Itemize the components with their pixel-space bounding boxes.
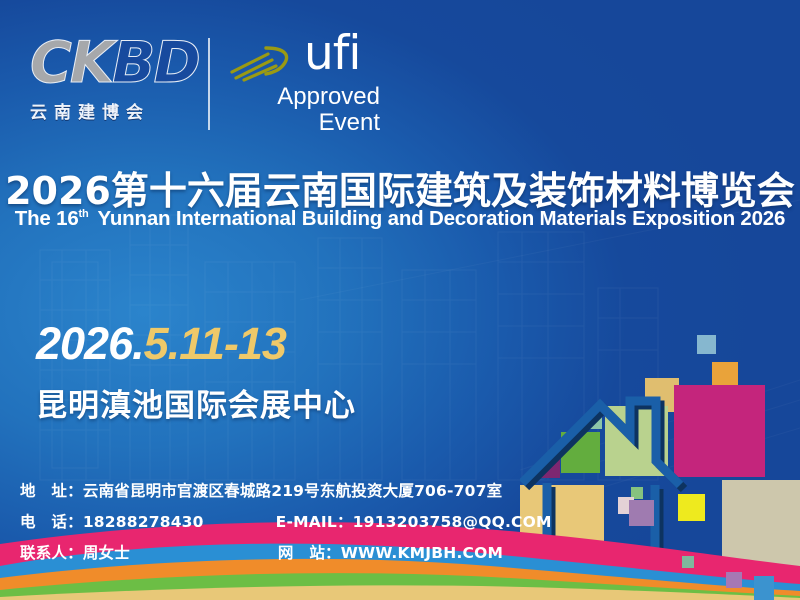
contact-row-person-website: 联系人：周女士网 站：WWW.KMJBH.COM bbox=[20, 541, 560, 572]
square-blue-foot bbox=[754, 576, 774, 600]
phone-value: 18288278430 bbox=[83, 513, 204, 531]
logo-bar: CKBD 云南建博会 ufi Approved Event bbox=[0, 24, 420, 140]
email-value: 1913203758@QQ.COM bbox=[353, 513, 552, 531]
website-label: 网 站： bbox=[278, 544, 341, 562]
ufi-swoosh-icon bbox=[228, 42, 300, 82]
ufi-approved-label: Approved bbox=[228, 84, 380, 110]
ufi-event-label: Event bbox=[228, 110, 380, 136]
square-light-blue bbox=[697, 335, 716, 354]
event-days: 5.11-13 bbox=[144, 318, 286, 369]
ufi-wordmark: ufi bbox=[304, 26, 360, 81]
title-english-pre: The 16 bbox=[15, 207, 79, 230]
title-english-post: Yunnan International Building and Decora… bbox=[98, 207, 786, 230]
title-english: The 16thYunnan International Building an… bbox=[0, 207, 800, 231]
ufi-approved-event-logo[interactable]: ufi Approved Event bbox=[228, 36, 398, 136]
contact-row-phone-email: 电 话：18288278430E-MAIL：1913203758@QQ.COM bbox=[20, 510, 560, 541]
square-violet-foot bbox=[726, 572, 742, 588]
ckbd-letters-gray: CK bbox=[30, 30, 112, 96]
event-venue: 昆明滇池国际会展中心 bbox=[36, 380, 356, 425]
exhibition-poster: CKBD 云南建博会 ufi Approved Event 2026第十六届云 bbox=[0, 0, 800, 600]
ckbd-letters-blue: BD bbox=[112, 30, 199, 96]
address-label: 地 址： bbox=[20, 479, 83, 501]
ckbd-chinese-label: 云南建博会 bbox=[30, 98, 198, 123]
logo-divider bbox=[208, 38, 210, 130]
person-value: 周女士 bbox=[83, 544, 130, 562]
event-year: 2026. bbox=[36, 318, 144, 369]
contact-row-address: 地 址：云南省昆明市官渡区春城路219号东航投资大厦706-707室 bbox=[20, 479, 560, 510]
event-date: 2026.5.11-13 bbox=[36, 318, 286, 370]
website-value[interactable]: WWW.KMJBH.COM bbox=[341, 544, 503, 562]
title-english-ordinal: th bbox=[79, 208, 89, 220]
ckbd-wordmark: CKBD bbox=[30, 32, 198, 94]
phone-label: 电 话： bbox=[20, 510, 83, 532]
email-label: E-MAIL： bbox=[276, 510, 353, 532]
square-teal-small bbox=[682, 556, 694, 568]
address-value: 云南省昆明市官渡区春城路219号东航投资大厦706-707室 bbox=[83, 482, 503, 500]
person-label: 联系人： bbox=[20, 541, 83, 563]
contact-block: 地 址：云南省昆明市官渡区春城路219号东航投资大厦706-707室 电 话：1… bbox=[20, 479, 560, 572]
ckbd-logo[interactable]: CKBD 云南建博会 bbox=[30, 32, 198, 140]
